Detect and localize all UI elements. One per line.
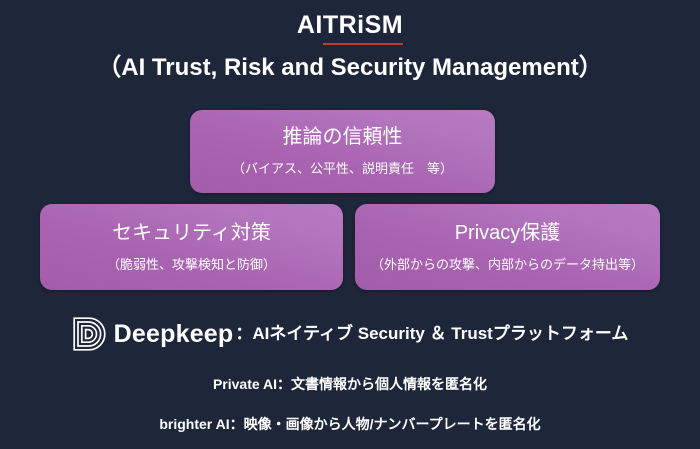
pillar-subtitle: （外部からの攻撃、内部からのデータ持出等）	[371, 255, 644, 275]
page-title: AI TRiSM	[0, 8, 700, 45]
pillar-title: 推論の信頼性	[283, 124, 403, 150]
pillar-card-security-measures: セキュリティ対策 （脆弱性、攻撃検知と防御）	[40, 204, 343, 290]
pillar-subtitle: （バイアス、公平性、説明責任 等）	[232, 159, 453, 179]
pillar-card-inference-reliability: 推論の信頼性 （バイアス、公平性、説明責任 等）	[190, 110, 495, 193]
page-title-underlined: TRiSM	[323, 8, 403, 45]
brand-row: Deepkeep ：AIネイティブ Security ＆ Trustプラットフォ…	[0, 316, 700, 352]
product-line-brighter-ai: brighter AI：映像・画像から人物/ナンバープレートを匿名化	[0, 414, 700, 434]
product-line-private-ai: Private AI：文書情報から個人情報を匿名化	[0, 374, 700, 394]
title-block: AI TRiSM （AI Trust, Risk and Security Ma…	[0, 8, 700, 85]
slide-canvas: AI TRiSM （AI Trust, Risk and Security Ma…	[0, 0, 700, 449]
pillar-subtitle: （脆弱性、攻撃検知と防御）	[107, 255, 276, 275]
brand-tagline: ：AIネイティブ Security ＆ Trustプラットフォーム	[235, 318, 628, 350]
pillar-card-privacy-protection: Privacy保護 （外部からの攻撃、内部からのデータ持出等）	[355, 204, 660, 290]
page-subtitle: （AI Trust, Risk and Security Management）	[0, 51, 700, 85]
deepkeep-d-logo-icon	[72, 316, 106, 352]
pillar-title: セキュリティ対策	[112, 220, 271, 246]
brand-name: Deepkeep	[114, 318, 234, 350]
page-title-prefix: AI	[297, 8, 323, 42]
pillar-title: Privacy保護	[455, 220, 561, 246]
